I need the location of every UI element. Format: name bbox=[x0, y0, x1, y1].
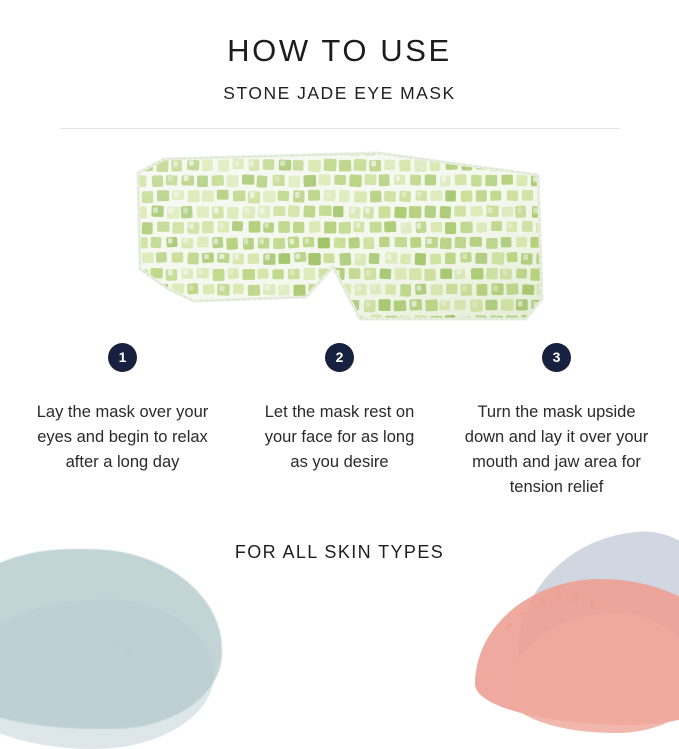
page-title: HOW TO USE bbox=[0, 34, 679, 68]
step-number-badge-2: 2 bbox=[325, 343, 354, 372]
step-description-2: Let the mask rest on your face for as lo… bbox=[237, 400, 442, 475]
step-number-badge-3: 3 bbox=[542, 343, 571, 372]
footer: FOR ALL SKIN TYPES bbox=[0, 542, 679, 563]
product-subtitle: STONE JADE EYE MASK bbox=[0, 83, 679, 104]
jade-eye-mask-illustration bbox=[128, 149, 548, 329]
step-item-1: 1 Lay the mask over your eyes and begin … bbox=[14, 343, 231, 500]
jade-eye-mask-image bbox=[128, 149, 548, 329]
step-description-1: Lay the mask over your eyes and begin to… bbox=[20, 400, 225, 475]
step-item-3: 3 Turn the mask upside down and lay it o… bbox=[448, 343, 665, 500]
steps-row: 1 Lay the mask over your eyes and begin … bbox=[0, 343, 679, 500]
header: HOW TO USE STONE JADE EYE MASK bbox=[0, 0, 679, 104]
product-image-area bbox=[0, 141, 679, 337]
step-number-badge-1: 1 bbox=[108, 343, 137, 372]
infographic-page: HOW TO USE STONE JADE EYE MASK bbox=[0, 0, 679, 663]
step-description-3: Turn the mask upside down and lay it ove… bbox=[454, 400, 659, 500]
footer-tagline: FOR ALL SKIN TYPES bbox=[0, 542, 679, 563]
header-divider bbox=[60, 128, 620, 129]
step-item-2: 2 Let the mask rest on your face for as … bbox=[231, 343, 448, 500]
